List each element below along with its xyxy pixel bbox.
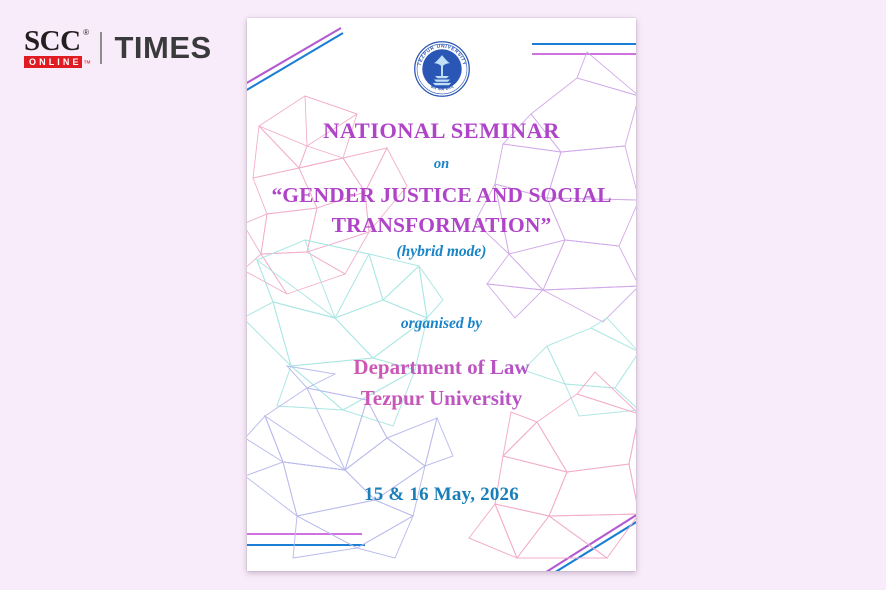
registered-mark-icon: ®: [83, 29, 89, 37]
times-wordmark: TIMES: [115, 30, 212, 66]
tezpur-university-seal-icon: TEZPUR UNIVERSITY ज्ञानं परमं बलम्: [247, 40, 636, 98]
poster-topic-line-2: TRANSFORMATION”: [247, 211, 636, 241]
poster-topic: “GENDER JUSTICE AND SOCIAL TRANSFORMATIO…: [247, 181, 636, 240]
scc-online-times-logo: SCC ® ONLINE ™ TIMES: [24, 26, 212, 70]
scc-wordmark: SCC: [24, 28, 81, 55]
scc-online-badge: ONLINE: [24, 56, 82, 68]
poster-connector: on: [247, 156, 636, 173]
brand-divider: [100, 32, 102, 64]
poster-topic-line-1: “GENDER JUSTICE AND SOCIAL: [247, 181, 636, 211]
poster-organiser-line-1: Department of Law: [247, 352, 636, 383]
scc-online-logo: SCC ® ONLINE ™: [24, 28, 82, 69]
poster-date: 15 & 16 May, 2026: [247, 484, 636, 506]
poster-organiser-line-2: Tezpur University: [247, 383, 636, 414]
trademark-icon: ™: [83, 60, 91, 68]
seminar-poster-image: TEZPUR UNIVERSITY ज्ञानं परमं बलम् NATIO…: [247, 18, 636, 571]
poster-mode: (hybrid mode): [247, 243, 636, 261]
poster-heading: NATIONAL SEMINAR: [247, 118, 636, 144]
poster-organised-by-label: organised by: [247, 315, 636, 333]
poster-organiser: Department of Law Tezpur University: [247, 352, 636, 414]
